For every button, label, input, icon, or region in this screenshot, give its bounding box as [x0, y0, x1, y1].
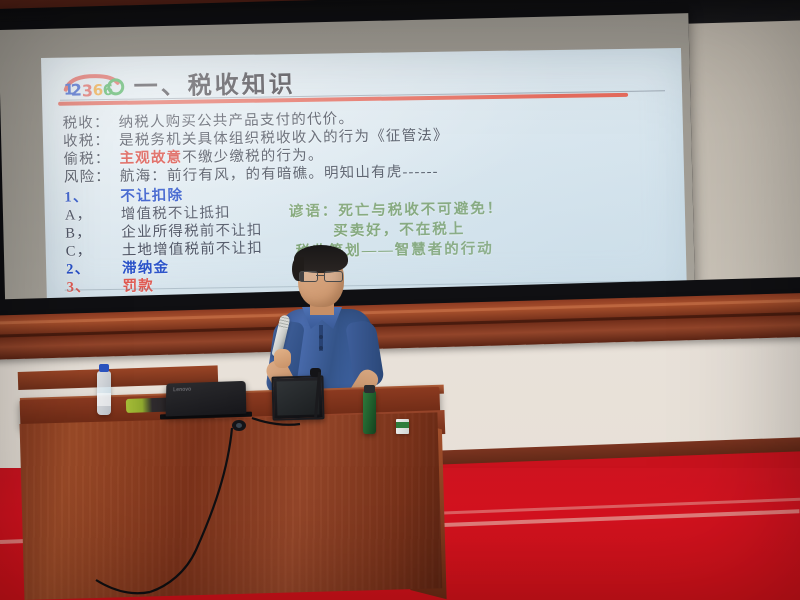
glasses-icon: [299, 271, 343, 281]
slide-line-4-key: 风险：: [64, 165, 121, 187]
photo-scene: 1 2 3 6 6 一、税收知识 税收：纳税人购买公共产品支付的代价。 收税：是…: [0, 0, 800, 600]
svg-text:3: 3: [82, 81, 94, 98]
presenter-left-hand: [274, 349, 291, 368]
presenter-button-top: [319, 335, 323, 339]
floor-cables: [0, 400, 800, 600]
tax-hotline-12366-logo: 1 2 3 6 6: [59, 71, 126, 98]
slide-line-4: 风险：航海：前行有风，的有暗礁。明知山有虎------: [64, 160, 439, 187]
slide-line-4-text: 航海：前行有风，的有暗礁。明知山有虎------: [120, 164, 439, 185]
thermos-cap: [364, 385, 375, 393]
bottle-cap: [99, 364, 109, 372]
svg-text:2: 2: [71, 80, 83, 97]
presenter-button-bottom: [319, 346, 323, 350]
